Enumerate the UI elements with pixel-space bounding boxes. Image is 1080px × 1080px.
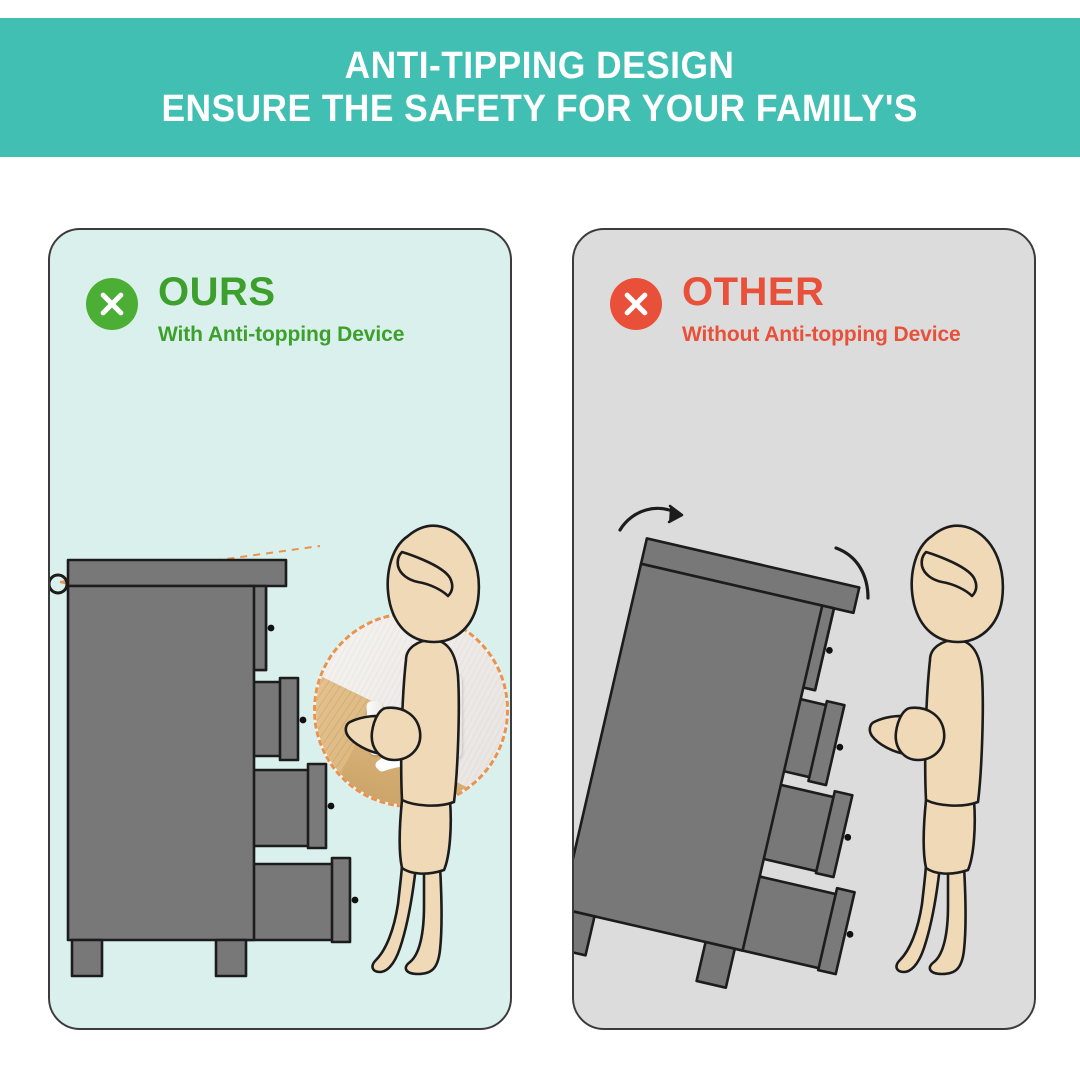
panel-other: OTHER Without Anti-topping Device <box>572 228 1036 1030</box>
dresser-body <box>68 586 254 940</box>
child-leg-back <box>897 864 940 972</box>
drawer-knob-4 <box>846 930 854 938</box>
drawer-front-2 <box>280 678 298 760</box>
dresser-leg-right <box>216 940 246 976</box>
child-figure <box>870 526 1003 974</box>
child-shorts <box>924 800 975 874</box>
dresser-leg-left <box>574 910 595 956</box>
panel-ours: OURS With Anti-topping Device <box>48 228 512 1030</box>
dresser-upright-scene <box>50 230 510 1028</box>
child-shorts <box>400 800 451 874</box>
infographic-stage: ANTI-TIPPING DESIGN ENSURE THE SAFETY FO… <box>0 0 1080 1080</box>
header-banner: ANTI-TIPPING DESIGN ENSURE THE SAFETY FO… <box>0 18 1080 157</box>
child-hand <box>372 708 420 760</box>
drawer-knob-4 <box>352 897 359 904</box>
dresser-tipping-scene <box>574 230 1034 1028</box>
drawer-knob-1 <box>268 625 275 632</box>
drawer-knob-2 <box>300 717 307 724</box>
drawer-knob-2 <box>836 743 844 751</box>
rotation-arrow-top <box>620 506 682 530</box>
drawer-knob-3 <box>328 803 335 810</box>
header-title-line1: ANTI-TIPPING DESIGN <box>345 45 735 88</box>
dresser-leg-left <box>72 940 102 976</box>
header-title-line2: ENSURE THE SAFETY FOR YOUR FAMILY'S <box>162 88 918 131</box>
child-hand <box>896 708 944 760</box>
dresser-leg-right <box>697 942 735 988</box>
drawer-knob-1 <box>825 646 833 654</box>
drawer-front-3 <box>308 764 326 848</box>
child-leg-back <box>373 864 416 972</box>
drawer-front-4 <box>332 858 350 942</box>
child-figure <box>346 526 479 974</box>
dresser-top-slab <box>68 560 286 586</box>
drawer-knob-3 <box>844 833 852 841</box>
